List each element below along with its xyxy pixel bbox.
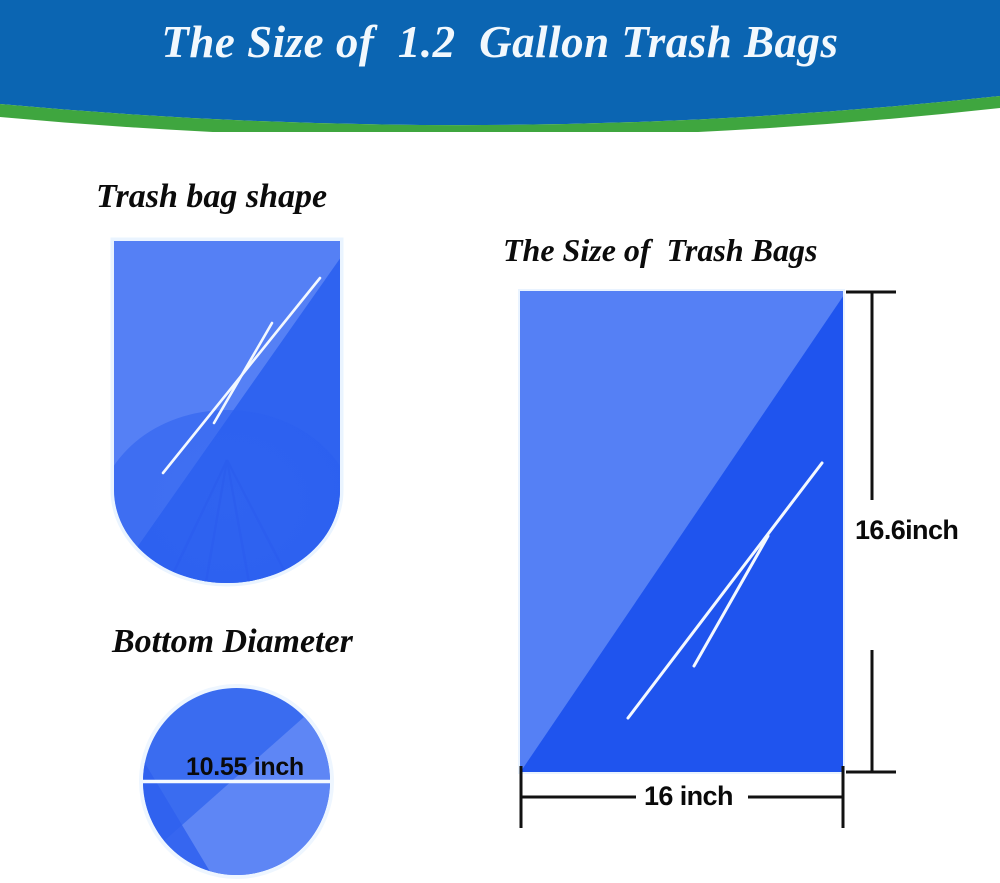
bag-bottom-shading (97, 410, 357, 630)
bottom-diameter-graphic (120, 685, 340, 880)
trash-bag-shape-graphic (97, 230, 360, 630)
diagram-artwork (0, 0, 1000, 883)
bottom-diameter-value: 10.55 inch (186, 753, 304, 782)
height-measurement-value: 16.6inch (855, 515, 958, 546)
page-title: The Size of 1.2 Gallon Trash Bags (0, 16, 1000, 68)
trash-bag-flat-graphic (515, 286, 850, 780)
width-measurement-value: 16 inch (644, 781, 733, 812)
